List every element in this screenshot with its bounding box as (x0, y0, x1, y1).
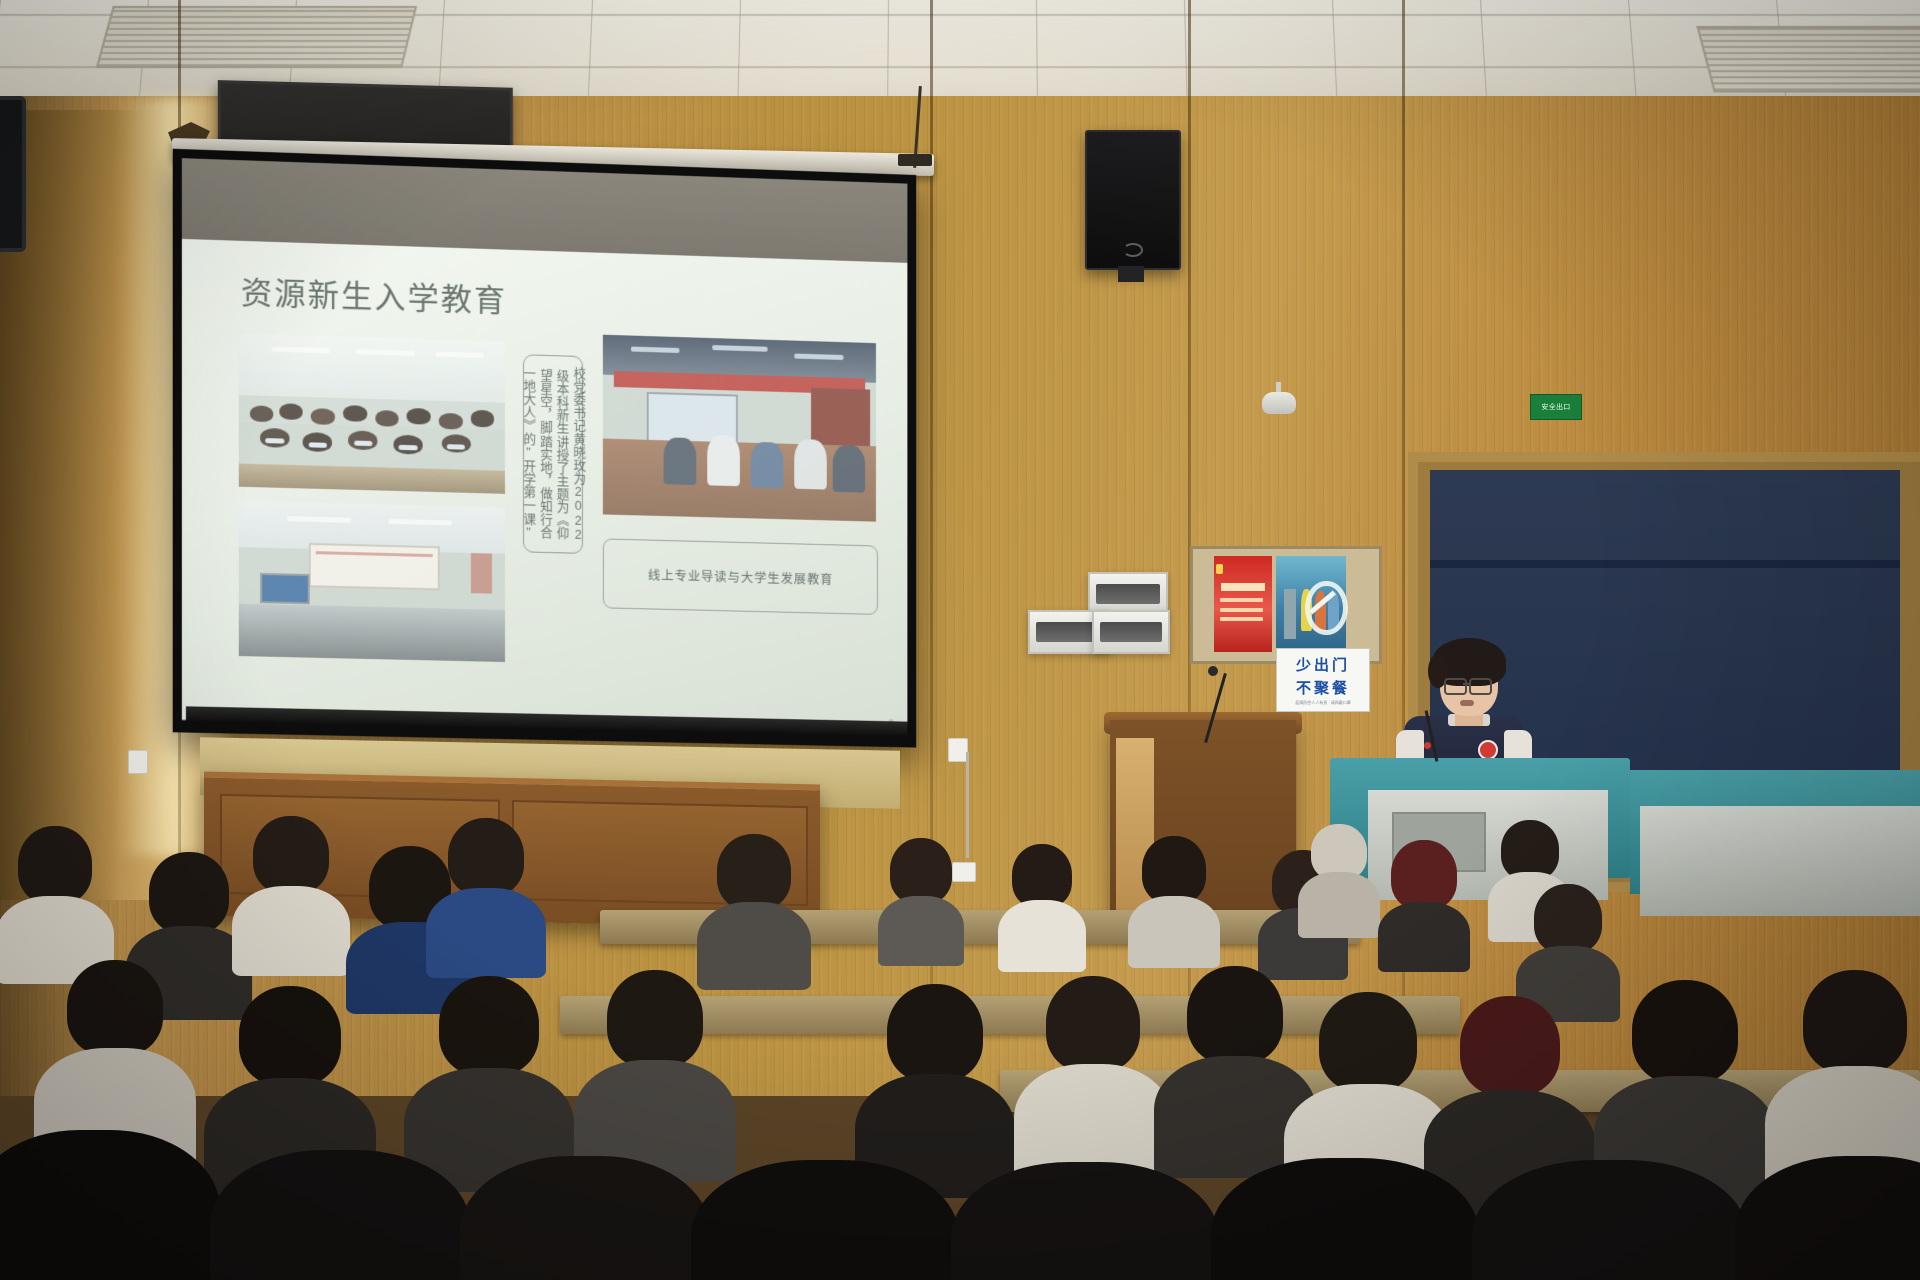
audience-member (220, 1130, 460, 1280)
audience-member (430, 818, 542, 970)
audience-member (236, 816, 346, 966)
poster-anti-gathering (1276, 556, 1346, 652)
presenter-mouth (1460, 700, 1474, 706)
photo-monitor (260, 573, 309, 605)
lecture-hall-scene: 资源新生入学教育 (0, 0, 1920, 1280)
podium-microphone-head (1208, 666, 1218, 676)
exit-sign: 安全出口 (1530, 394, 1582, 420)
slide-title: 资源新生入学教育 (241, 267, 507, 321)
breaker-slot (1100, 622, 1162, 641)
audience-member (1130, 836, 1218, 962)
slide-vertical-caption: 校党委书记黄晓玫为2022级本科新生讲授了主题为《仰望星空，脚踏实地，做知行合一… (520, 362, 586, 546)
photo-roundtable-meeting (603, 335, 876, 522)
audience-member (880, 838, 962, 958)
wall-speaker (1085, 130, 1181, 270)
photo-audience (239, 603, 505, 662)
audience-member (0, 1100, 210, 1280)
photo-whiteboard (308, 543, 440, 591)
audience-member (700, 834, 808, 982)
photo-crowd (239, 392, 505, 473)
audience-area: 请勿 (0, 800, 1920, 1280)
photo-board-banner (315, 551, 433, 557)
covid-sign-footnote: 疫情防控人人有责 · 请佩戴口罩 (1295, 700, 1351, 706)
ceiling-vent-right (1696, 26, 1920, 93)
presenter-glasses-right (1469, 678, 1492, 695)
ceiling-vent-left (96, 6, 417, 68)
audience-member (700, 1148, 950, 1280)
speaker-mount-bracket (1118, 266, 1144, 282)
breaker-slot (1096, 584, 1160, 603)
presenter-pin (1424, 742, 1431, 749)
audience-member (1020, 976, 1166, 1178)
projection-screen: 资源新生入学教育 (173, 149, 917, 748)
security-camera (1262, 392, 1296, 414)
photo-classroom-students (239, 334, 505, 494)
poster-tower-icon (1284, 589, 1295, 639)
audience-member (1220, 1146, 1470, 1280)
audience-member (1000, 844, 1084, 964)
audience-member (1480, 1150, 1740, 1280)
wall-socket[interactable] (948, 738, 968, 762)
audience-member (1740, 1144, 1920, 1280)
presentation-slide: 资源新生入学教育 (182, 239, 908, 735)
audience-member (1300, 824, 1378, 934)
covid-sign-line1: 少出门 (1296, 654, 1350, 675)
audience-member (0, 826, 110, 976)
door-rail (1430, 560, 1900, 568)
photo-lecture-hall (239, 501, 505, 662)
covid-notice-sign: 少出门 不聚餐 疫情防控人人有责 · 请佩戴口罩 (1276, 648, 1370, 712)
slide-bottom-box: 线上专业导读与大学生发展教育 (603, 538, 878, 614)
slide-bottom-text: 线上专业导读与大学生发展教育 (648, 566, 833, 589)
audience-member (960, 1152, 1210, 1280)
presenter-glasses-left (1444, 678, 1467, 695)
electrical-box[interactable] (1092, 610, 1170, 654)
wall-socket[interactable] (128, 750, 148, 774)
presenter-badge (1478, 740, 1498, 760)
cable-bracket (898, 154, 932, 166)
covid-sign-line2: 不聚餐 (1296, 677, 1350, 698)
exit-sign-label: 安全出口 (1541, 402, 1570, 412)
poster-socialist-core-values (1214, 556, 1272, 652)
audience-member (1380, 840, 1468, 966)
screen-surface: 资源新生入学教育 (182, 158, 908, 735)
speaker-logo-icon (1123, 243, 1143, 257)
audience-member (470, 1140, 700, 1280)
photo-side-banner (471, 553, 492, 594)
emblem-icon (1216, 564, 1223, 575)
poster-title-block (1221, 583, 1265, 591)
wall-monitor-left-edge (0, 96, 26, 252)
slide-vertical-caption-box: 校党委书记黄晓玫为2022级本科新生讲授了主题为《仰望星空，脚踏实地，做知行合一… (523, 354, 583, 554)
presenter-glasses-bridge (1463, 683, 1470, 685)
